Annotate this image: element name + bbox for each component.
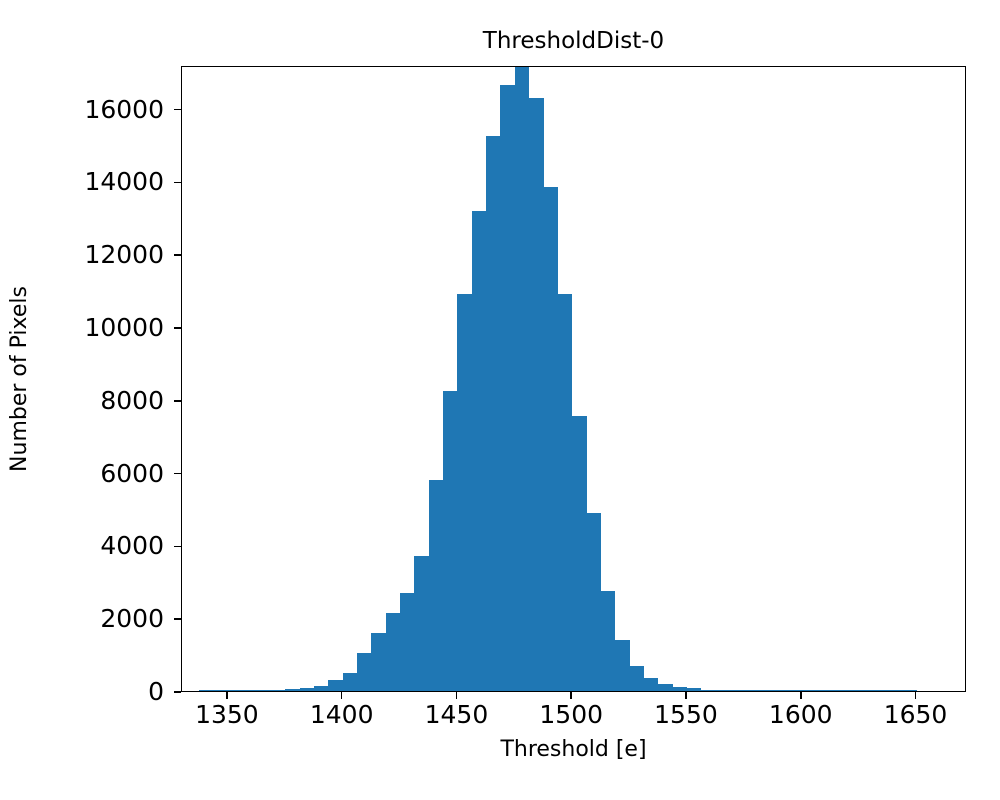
histogram-bar xyxy=(343,673,357,691)
histogram-bar xyxy=(859,690,873,691)
x-tick-mark xyxy=(570,692,572,699)
histogram-bar xyxy=(587,513,601,691)
histogram-bar xyxy=(429,480,443,691)
histogram-bar xyxy=(414,556,428,691)
y-tick-mark xyxy=(174,691,181,693)
histogram-bar xyxy=(673,687,687,691)
y-tick-label: 2000 xyxy=(100,604,164,634)
y-tick-mark xyxy=(174,182,181,184)
y-tick-label: 14000 xyxy=(84,167,164,197)
histogram-bar xyxy=(830,690,844,691)
histogram-bar xyxy=(285,689,299,691)
x-tick-mark xyxy=(226,692,228,699)
y-tick-label: 8000 xyxy=(100,386,164,416)
x-tick-mark xyxy=(456,692,458,699)
histogram-bar xyxy=(515,67,529,691)
histogram-bar xyxy=(845,690,859,691)
x-tick-mark xyxy=(341,692,343,699)
page-title: ThresholdDist-0 xyxy=(181,27,966,55)
y-tick-mark xyxy=(174,400,181,402)
histogram-bar xyxy=(873,690,887,691)
histogram-bar xyxy=(400,593,414,691)
histogram-bar xyxy=(257,690,271,691)
y-axis-label: Number of Pixels xyxy=(7,286,33,472)
x-tick-label: 1400 xyxy=(310,700,374,730)
histogram-bar xyxy=(759,690,773,691)
histogram-bar xyxy=(357,653,371,691)
histogram-bar xyxy=(644,678,658,691)
histogram-bar xyxy=(242,690,256,691)
histogram-bar xyxy=(902,690,916,691)
x-tick-label: 1500 xyxy=(539,700,603,730)
y-tick-label: 6000 xyxy=(100,459,164,489)
histogram-bar xyxy=(630,666,644,691)
x-tick-mark xyxy=(685,692,687,699)
histogram-bar xyxy=(500,85,514,691)
histogram-bar xyxy=(558,294,572,691)
histogram-bar xyxy=(658,684,672,691)
y-tick-label: 10000 xyxy=(84,313,164,343)
histogram-bar xyxy=(371,633,385,691)
histogram-bar xyxy=(472,211,486,691)
x-tick-mark xyxy=(915,692,917,699)
histogram-bar xyxy=(816,690,830,691)
histogram-bar xyxy=(744,690,758,691)
histogram-bar xyxy=(544,187,558,691)
histogram-bar xyxy=(486,136,500,691)
y-tick-mark xyxy=(174,473,181,475)
plot-axes xyxy=(181,66,966,692)
y-tick-mark xyxy=(174,546,181,548)
histogram-bar xyxy=(314,686,328,691)
histogram-bar xyxy=(271,690,285,691)
histogram-bar xyxy=(701,690,715,691)
x-tick-label: 1600 xyxy=(769,700,833,730)
histogram-bar xyxy=(716,690,730,691)
histogram-bar xyxy=(730,690,744,691)
histogram-bar xyxy=(529,98,543,691)
x-axis-label: Threshold [e] xyxy=(181,737,966,763)
histogram-bar xyxy=(687,688,701,691)
histogram-bar xyxy=(601,591,615,691)
y-tick-label: 4000 xyxy=(100,531,164,561)
histogram-bar xyxy=(802,690,816,691)
histogram-bar xyxy=(328,680,342,691)
x-tick-mark xyxy=(800,692,802,699)
y-tick-label: 12000 xyxy=(84,240,164,270)
histogram-bar xyxy=(199,690,213,691)
plot-area xyxy=(182,67,965,691)
histogram-bar xyxy=(457,294,471,691)
histogram-bar xyxy=(300,688,314,691)
x-tick-label: 1350 xyxy=(195,700,259,730)
y-tick-mark xyxy=(174,254,181,256)
y-tick-mark xyxy=(174,109,181,111)
figure-canvas: ThresholdDist-0 135014001450150015501600… xyxy=(0,0,1000,800)
y-axis-label-container: Number of Pixels xyxy=(0,66,40,692)
histogram-bar xyxy=(888,690,902,691)
histogram-bar xyxy=(787,690,801,691)
y-tick-mark xyxy=(174,618,181,620)
histogram-bar xyxy=(443,391,457,691)
x-tick-label: 1650 xyxy=(884,700,948,730)
histogram-bar xyxy=(386,613,400,691)
x-tick-label: 1550 xyxy=(654,700,718,730)
y-tick-mark xyxy=(174,327,181,329)
histogram-bars xyxy=(182,67,965,691)
histogram-bar xyxy=(615,640,629,691)
x-tick-label: 1450 xyxy=(425,700,489,730)
histogram-bar xyxy=(228,690,242,691)
histogram-bar xyxy=(214,690,228,691)
histogram-bar xyxy=(572,416,586,691)
histogram-bar xyxy=(773,690,787,691)
y-tick-label: 0 xyxy=(148,677,164,707)
y-tick-label: 16000 xyxy=(84,95,164,125)
